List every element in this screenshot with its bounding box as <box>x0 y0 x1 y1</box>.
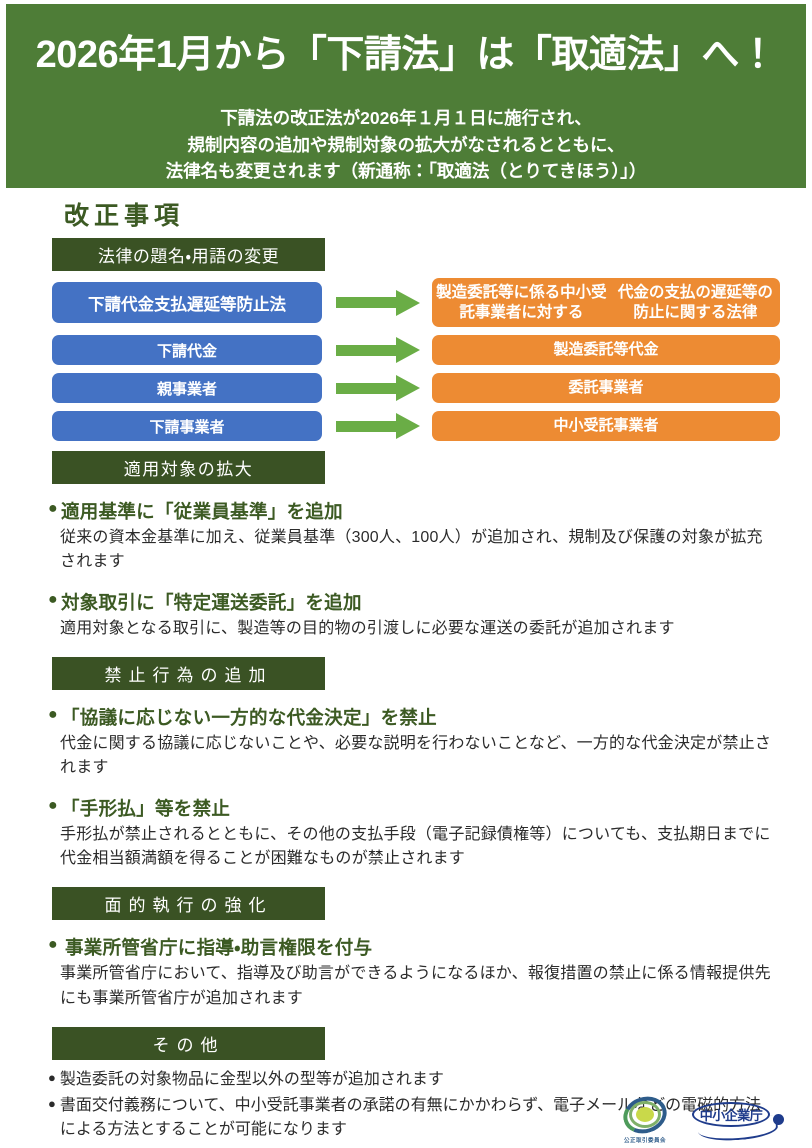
new-term-0: 製造委託等に係る中小受託事業者に対する代金の支払の遅延等の防止に関する法律 <box>432 278 780 327</box>
prohibited-item-0-heading: ● 「協議に応じない一方的な代金決定」を禁止 <box>48 704 812 730</box>
bullet-icon: ● <box>48 1068 56 1088</box>
enforcement-item-0-body: 事業所管省庁において、指導及び助言ができるようになるほか、報復措置の禁止に係る情… <box>60 962 778 1011</box>
table-row: 下請事業者 中小受託事業者 <box>0 411 812 441</box>
table-row: 下請代金支払遅延等防止法 製造委託等に係る中小受託事業者に対する代金の支払の遅延… <box>0 278 812 327</box>
section-label-other: その他 <box>52 1027 325 1060</box>
prohibited-item-1-heading: ● 「手形払」等を禁止 <box>48 795 812 821</box>
scope-item-0-body: 従来の資本金基準に加え、従業員基準（300人、100人）が追加され、規制及び保護… <box>60 526 778 575</box>
scope-item-1: ● 対象取引に「特定運送委託」を追加 適用対象となる取引に、製造等の目的物の引渡… <box>0 589 812 641</box>
jftc-emblem-icon <box>620 1095 670 1135</box>
table-row: 下請代金 製造委託等代金 <box>0 335 812 365</box>
old-term-1: 下請代金 <box>52 335 322 365</box>
bullet-icon: ● <box>48 1094 56 1114</box>
scope-item-0: ● 適用基準に「従業員基準」を追加 従来の資本金基準に加え、従業員基準（300人… <box>0 498 812 575</box>
banner-title: 2026年1月から「下請法」は「取適法」へ！ <box>36 23 777 78</box>
other-item-0-text: 製造委託の対象物品に金型以外の型等が追加されます <box>60 1068 772 1092</box>
prohibited-item-1-heading-text: 「手形払」等を禁止 <box>61 795 230 821</box>
arrow-right-icon <box>322 290 432 316</box>
new-term-0-line-1: 製造委託等に係る中小受託事業者に対する <box>432 283 611 322</box>
section-label-enforcement: 面的執行の強化 <box>52 887 325 920</box>
content-area: 改正事項 法律の題名・用語の変更 下請代金支払遅延等防止法 製造委託等に係る中小… <box>0 188 812 1144</box>
agency-logos: 公正取引委員会 中小企業庁 <box>614 1095 794 1144</box>
prohibited-item-0-body: 代金に関する協議に応じないことや、必要な説明を行わないことなど、一方的な代金決定… <box>60 732 778 781</box>
sme-agency-logo: 中小企業庁 <box>690 1100 794 1144</box>
prohibited-item-0: ● 「協議に応じない一方的な代金決定」を禁止 代金に関する協議に応じないことや、… <box>0 704 812 781</box>
new-term-3: 中小受託事業者 <box>432 411 780 441</box>
section-label-scope: 適用対象の拡大 <box>52 451 325 484</box>
terms-mapping-table: 下請代金支払遅延等防止法 製造委託等に係る中小受託事業者に対する代金の支払の遅延… <box>0 278 812 441</box>
old-term-3: 下請事業者 <box>52 411 322 441</box>
new-term-1: 製造委託等代金 <box>432 335 780 365</box>
sme-dot-icon <box>773 1114 784 1125</box>
old-term-2: 親事業者 <box>52 373 322 403</box>
bullet-icon: ● <box>48 704 58 726</box>
jftc-logo-caption: 公正取引委員会 <box>614 1136 676 1144</box>
prohibited-item-1-body: 手形払が禁止されるとともに、その他の支払手段（電子記録債権等）についても、支払期… <box>60 823 778 872</box>
jftc-logo: 公正取引委員会 <box>614 1095 676 1144</box>
bullet-icon: ● <box>48 498 58 520</box>
scope-item-1-heading-text: 対象取引に「特定運送委託」を追加 <box>61 589 362 615</box>
enforcement-item-0-heading-text: 事業所管省庁に指導・助言権限を付与 <box>65 934 372 960</box>
bullet-icon: ● <box>48 795 58 817</box>
section-label-terms: 法律の題名・用語の変更 <box>52 238 325 271</box>
enforcement-item-0-heading: ● 事業所管省庁に指導・助言権限を付与 <box>48 934 812 960</box>
new-term-0-line-2: 代金の支払の遅延等の防止に関する法律 <box>611 283 780 322</box>
arrow-right-icon <box>322 375 432 401</box>
banner-subtitle-line-3: 法律名も変更されます（新通称：「取適法（とりてきほう）」） <box>166 158 647 185</box>
scope-item-1-body: 適用対象となる取引に、製造等の目的物の引渡しに必要な運送の委託が追加されます <box>60 617 778 641</box>
old-term-0: 下請代金支払遅延等防止法 <box>52 282 322 323</box>
page-title: 改正事項 <box>64 196 812 232</box>
header-banner: 2026年1月から「下請法」は「取適法」へ！ 下請法の改正法が2026年１月１日… <box>6 4 806 188</box>
prohibited-item-0-heading-text: 「協議に応じない一方的な代金決定」を禁止 <box>61 704 437 730</box>
table-row: 親事業者 委託事業者 <box>0 373 812 403</box>
arrow-right-icon <box>322 337 432 363</box>
scope-item-0-heading-text: 適用基準に「従業員基準」を追加 <box>61 498 343 524</box>
prohibited-item-1: ● 「手形払」等を禁止 手形払が禁止されるとともに、その他の支払手段（電子記録債… <box>0 795 812 872</box>
enforcement-item-0: ● 事業所管省庁に指導・助言権限を付与 事業所管省庁において、指導及び助言ができ… <box>0 934 812 1011</box>
sme-oval-icon: 中小企業庁 <box>692 1102 770 1127</box>
bullet-icon: ● <box>48 589 58 611</box>
arrow-right-icon <box>322 413 432 439</box>
banner-subtitle: 下請法の改正法が2026年１月１日に施行され、 規制内容の追加や規制対象の拡大が… <box>166 105 647 185</box>
banner-subtitle-line-2: 規制内容の追加や規制対象の拡大がなされるとともに、 <box>166 132 647 159</box>
section-label-prohibited: 禁止行為の追加 <box>52 657 325 690</box>
banner-subtitle-line-1: 下請法の改正法が2026年１月１日に施行され、 <box>166 105 647 132</box>
scope-item-1-heading: ● 対象取引に「特定運送委託」を追加 <box>48 589 812 615</box>
sme-logo-text: 中小企業庁 <box>700 1105 763 1124</box>
list-item: ● 製造委託の対象物品に金型以外の型等が追加されます <box>48 1068 812 1092</box>
scope-item-0-heading: ● 適用基準に「従業員基準」を追加 <box>48 498 812 524</box>
bullet-icon: ● <box>48 934 58 956</box>
new-term-2: 委託事業者 <box>432 373 780 403</box>
